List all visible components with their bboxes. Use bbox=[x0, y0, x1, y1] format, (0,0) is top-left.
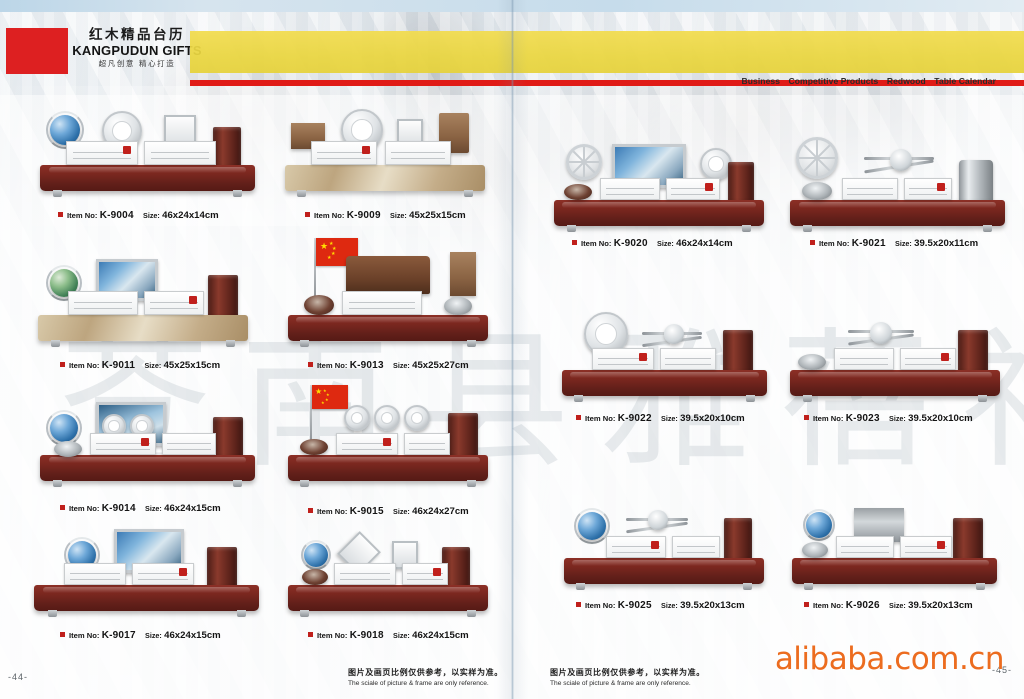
calendar-card bbox=[385, 141, 451, 165]
calendar-card bbox=[336, 433, 398, 455]
ashtray bbox=[798, 354, 826, 370]
calendar-card bbox=[592, 348, 654, 370]
calendar-card bbox=[900, 348, 956, 370]
calendar-mark bbox=[937, 183, 945, 191]
product-item[interactable] bbox=[285, 105, 485, 205]
size-label: Size: bbox=[145, 631, 162, 640]
product-photo bbox=[40, 105, 255, 205]
product-photo bbox=[288, 525, 488, 625]
base-feet bbox=[53, 480, 242, 487]
item-code: K-9014 bbox=[102, 503, 136, 514]
china-flag-icon: ★ ★ ★ ★ ★ bbox=[312, 385, 348, 409]
base-feet bbox=[803, 225, 992, 232]
product-caption: Item No: K-9018 Size: 46x24x15cm bbox=[308, 630, 469, 641]
base-feet bbox=[48, 610, 246, 617]
clock-icon bbox=[374, 405, 400, 431]
calendar-card bbox=[66, 141, 138, 165]
catalog-page: 苍南县雅蓓礼品 红木精品台历 KANGPUDUN GIFTS 超凡创意 精心打造… bbox=[0, 0, 1024, 699]
product-item[interactable] bbox=[34, 525, 259, 625]
wood-base bbox=[790, 370, 1000, 396]
item-no-label: Item No: bbox=[69, 631, 99, 640]
item-no-label: Item No: bbox=[813, 601, 843, 610]
alibaba-watermark: alibaba.com.cn bbox=[775, 641, 1004, 677]
calendar-mark bbox=[639, 353, 647, 361]
size-label: Size: bbox=[145, 504, 162, 513]
calendar-mark bbox=[189, 296, 197, 304]
calendar-mark bbox=[937, 541, 945, 549]
ashtray bbox=[304, 295, 334, 315]
calendar-mark bbox=[362, 146, 370, 154]
item-code: K-9015 bbox=[350, 506, 384, 517]
calendar-card bbox=[836, 536, 894, 558]
base-feet bbox=[803, 395, 988, 402]
item-size: 46x24x15cm bbox=[412, 630, 469, 641]
bullet-icon bbox=[572, 240, 577, 245]
calendar-card bbox=[334, 563, 396, 585]
bullet-icon bbox=[576, 415, 581, 420]
product-caption: Item No: K-9017 Size: 46x24x15cm bbox=[60, 630, 221, 641]
calendar-card bbox=[660, 348, 716, 370]
product-caption: Item No: K-9020 Size: 46x24x14cm bbox=[572, 238, 733, 249]
left-page-footer: 图片及画页比例仅供参考，以实样为准。 The sciale of picture… bbox=[348, 667, 503, 687]
size-label: Size: bbox=[661, 414, 678, 423]
size-label: Size: bbox=[393, 507, 410, 516]
size-label: Size: bbox=[390, 211, 407, 220]
product-item[interactable] bbox=[562, 310, 767, 410]
product-item[interactable] bbox=[790, 310, 1000, 410]
calendar-card bbox=[904, 178, 952, 200]
base-feet bbox=[576, 583, 752, 590]
calendar-card bbox=[842, 178, 898, 200]
wood-base bbox=[40, 165, 255, 191]
pen-cup bbox=[448, 413, 478, 461]
clock-icon bbox=[404, 405, 430, 431]
item-no-label: Item No: bbox=[585, 601, 615, 610]
product-item[interactable]: ★ ★ ★ ★ ★ bbox=[288, 395, 488, 495]
item-size: 39.5x20x11cm bbox=[914, 238, 978, 249]
left-page: Item No: K-9004 Size: 46x24x14cm Item No… bbox=[0, 0, 511, 699]
bullet-icon bbox=[804, 602, 809, 607]
item-code: K-9025 bbox=[618, 600, 652, 611]
item-no-label: Item No: bbox=[67, 211, 97, 220]
item-size: 45x25x15cm bbox=[409, 210, 466, 221]
item-code: K-9021 bbox=[852, 238, 886, 249]
calendar-mark bbox=[179, 568, 187, 576]
product-photo bbox=[790, 310, 1000, 410]
product-photo bbox=[562, 310, 767, 410]
item-size: 39.5x20x10cm bbox=[680, 413, 745, 424]
ashtray bbox=[802, 182, 832, 200]
item-no-label: Item No: bbox=[813, 414, 843, 423]
size-label: Size: bbox=[393, 361, 410, 370]
ashtray bbox=[802, 542, 828, 558]
item-code: K-9013 bbox=[350, 360, 384, 371]
size-label: Size: bbox=[143, 211, 160, 220]
item-size: 46x24x14cm bbox=[162, 210, 219, 221]
product-item[interactable] bbox=[790, 135, 1005, 240]
footer-note-en: The sciale of picture & frame are only r… bbox=[348, 680, 503, 687]
item-no-label: Item No: bbox=[317, 507, 347, 516]
item-size: 39.5x20x13cm bbox=[908, 600, 973, 611]
wood-base bbox=[288, 585, 488, 611]
footer-note-en: The sciale of picture & frame are only r… bbox=[550, 680, 705, 687]
wood-base bbox=[562, 370, 767, 396]
item-size: 45x25x27cm bbox=[412, 360, 469, 371]
item-no-label: Item No: bbox=[585, 414, 615, 423]
bullet-icon bbox=[60, 632, 65, 637]
compass-icon bbox=[664, 324, 684, 344]
bullet-icon bbox=[305, 212, 310, 217]
item-size: 46x24x15cm bbox=[164, 630, 221, 641]
ashtray bbox=[444, 297, 472, 315]
product-caption: Item No: K-9004 Size: 46x24x14cm bbox=[58, 210, 219, 221]
base-feet bbox=[53, 190, 242, 197]
product-caption: Item No: K-9023 Size: 39.5x20x10cm bbox=[804, 413, 973, 424]
wood-base bbox=[288, 315, 488, 341]
compass-icon bbox=[890, 149, 912, 171]
left-page-number: -44- bbox=[8, 672, 28, 682]
calendar-card bbox=[404, 433, 450, 455]
calendar-card bbox=[144, 141, 216, 165]
product-caption: Item No: K-9011 Size: 45x25x15cm bbox=[60, 360, 220, 371]
item-no-label: Item No: bbox=[314, 211, 344, 220]
bullet-icon bbox=[60, 505, 65, 510]
wood-base bbox=[40, 455, 255, 481]
product-photo bbox=[790, 135, 1005, 240]
product-caption: Item No: K-9009 Size: 45x25x15cm bbox=[305, 210, 466, 221]
base-feet bbox=[300, 340, 476, 347]
product-photo bbox=[564, 498, 764, 598]
item-no-label: Item No: bbox=[69, 504, 99, 513]
calendar-card bbox=[68, 291, 138, 315]
calendar-card bbox=[132, 563, 194, 585]
calendar-card bbox=[672, 536, 720, 558]
product-item[interactable] bbox=[40, 400, 255, 495]
calendar-card bbox=[144, 291, 204, 315]
product-photo bbox=[40, 400, 255, 495]
size-label: Size: bbox=[895, 239, 912, 248]
item-code: K-9026 bbox=[846, 600, 880, 611]
product-photo: ★ ★ ★ ★ ★ bbox=[288, 250, 488, 355]
calendar-mark bbox=[941, 353, 949, 361]
item-size: 39.5x20x10cm bbox=[908, 413, 973, 424]
size-label: Size: bbox=[661, 601, 678, 610]
product-item[interactable] bbox=[38, 255, 248, 355]
item-code: K-9004 bbox=[100, 210, 134, 221]
bullet-icon bbox=[804, 415, 809, 420]
great-wall-carving bbox=[346, 256, 430, 294]
calendar-mark bbox=[123, 146, 131, 154]
clock-icon bbox=[344, 405, 370, 431]
product-photo bbox=[34, 525, 259, 625]
ship-helm-icon bbox=[566, 144, 602, 180]
product-photo bbox=[285, 105, 485, 205]
item-no-label: Item No: bbox=[317, 361, 347, 370]
base-feet bbox=[300, 480, 476, 487]
ashtray bbox=[300, 439, 328, 455]
item-code: K-9009 bbox=[347, 210, 381, 221]
footer-note-cn: 图片及画页比例仅供参考，以实样为准。 bbox=[348, 667, 503, 678]
calendar-card bbox=[606, 536, 666, 558]
product-caption: Item No: K-9021 Size: 39.5x20x11cm bbox=[810, 238, 978, 249]
product-item[interactable]: ★ ★ ★ ★ ★ bbox=[288, 250, 488, 355]
item-no-label: Item No: bbox=[581, 239, 611, 248]
size-label: Size: bbox=[657, 239, 674, 248]
item-size: 39.5x20x13cm bbox=[680, 600, 745, 611]
wood-base bbox=[34, 585, 259, 611]
size-label: Size: bbox=[889, 414, 906, 423]
product-item[interactable] bbox=[288, 525, 488, 625]
calendar-card bbox=[311, 141, 377, 165]
tower-ornament bbox=[450, 252, 476, 296]
item-code: K-9022 bbox=[618, 413, 652, 424]
item-code: K-9018 bbox=[350, 630, 384, 641]
product-caption: Item No: K-9013 Size: 45x25x27cm bbox=[308, 360, 469, 371]
calendar-mark bbox=[705, 183, 713, 191]
calendar-card bbox=[900, 536, 952, 558]
item-size: 45x25x15cm bbox=[164, 360, 221, 371]
calendar-card bbox=[90, 433, 156, 455]
product-photo bbox=[38, 255, 248, 355]
item-no-label: Item No: bbox=[317, 631, 347, 640]
calendar-mark bbox=[383, 438, 391, 446]
base-feet bbox=[804, 583, 984, 590]
product-item[interactable] bbox=[40, 105, 255, 205]
calendar-card bbox=[600, 178, 660, 200]
product-caption: Item No: K-9015 Size: 46x24x27cm bbox=[308, 506, 469, 517]
product-item[interactable] bbox=[554, 140, 764, 240]
product-photo: ★ ★ ★ ★ ★ bbox=[288, 395, 488, 495]
item-size: 46x24x27cm bbox=[412, 506, 469, 517]
item-code: K-9011 bbox=[102, 360, 135, 371]
bullet-icon bbox=[308, 632, 313, 637]
item-code: K-9017 bbox=[102, 630, 136, 641]
product-caption: Item No: K-9022 Size: 39.5x20x10cm bbox=[576, 413, 745, 424]
ashtray bbox=[564, 184, 592, 200]
calendar-mark bbox=[433, 568, 441, 576]
product-photo bbox=[554, 140, 764, 240]
item-code: K-9020 bbox=[614, 238, 648, 249]
marble-base bbox=[285, 165, 485, 191]
calendar-card bbox=[834, 348, 894, 370]
right-page: Item No: K-9020 Size: 46x24x14cm bbox=[514, 0, 1024, 699]
globe-ring-icon bbox=[803, 509, 835, 541]
wood-base bbox=[288, 455, 488, 481]
bullet-icon bbox=[58, 212, 63, 217]
ashtray bbox=[54, 441, 82, 457]
product-item[interactable] bbox=[792, 498, 997, 598]
right-page-footer: 图片及画页比例仅供参考，以实样为准。 The sciale of picture… bbox=[550, 667, 705, 687]
wood-base bbox=[554, 200, 764, 226]
wood-base bbox=[792, 558, 997, 584]
ashtray bbox=[302, 569, 328, 585]
marble-base bbox=[38, 315, 248, 341]
size-label: Size: bbox=[393, 631, 410, 640]
base-feet bbox=[567, 225, 752, 232]
compass-icon bbox=[648, 510, 668, 530]
product-caption: Item No: K-9014 Size: 46x24x15cm bbox=[60, 503, 221, 514]
calendar-card bbox=[64, 563, 126, 585]
item-size: 46x24x15cm bbox=[164, 503, 221, 514]
wood-base bbox=[564, 558, 764, 584]
calendar-card bbox=[402, 563, 448, 585]
base-feet bbox=[574, 395, 754, 402]
globe-ring-icon bbox=[301, 540, 331, 570]
footer-note-cn: 图片及画页比例仅供参考，以实样为准。 bbox=[550, 667, 705, 678]
product-item[interactable] bbox=[564, 498, 764, 598]
bullet-icon bbox=[810, 240, 815, 245]
bullet-icon bbox=[308, 362, 313, 367]
globe-ring-icon bbox=[574, 508, 610, 544]
bullet-icon bbox=[308, 508, 313, 513]
size-label: Size: bbox=[889, 601, 906, 610]
calendar-mark bbox=[141, 438, 149, 446]
product-photo bbox=[792, 498, 997, 598]
calendar-card bbox=[162, 433, 216, 455]
bullet-icon bbox=[576, 602, 581, 607]
calendar-card bbox=[342, 291, 422, 315]
base-feet bbox=[51, 340, 236, 347]
bullet-icon bbox=[60, 362, 65, 367]
wood-base bbox=[790, 200, 1005, 226]
product-caption: Item No: K-9026 Size: 39.5x20x13cm bbox=[804, 600, 973, 611]
item-code: K-9023 bbox=[846, 413, 880, 424]
ship-helm-icon bbox=[796, 137, 838, 179]
product-caption: Item No: K-9025 Size: 39.5x20x13cm bbox=[576, 600, 745, 611]
item-no-label: Item No: bbox=[819, 239, 849, 248]
calendar-mark bbox=[651, 541, 659, 549]
size-label: Size: bbox=[144, 361, 161, 370]
compass-icon bbox=[870, 322, 892, 344]
item-no-label: Item No: bbox=[69, 361, 99, 370]
base-feet bbox=[300, 610, 476, 617]
base-feet bbox=[297, 190, 473, 197]
calendar-card bbox=[666, 178, 720, 200]
item-size: 46x24x14cm bbox=[676, 238, 733, 249]
